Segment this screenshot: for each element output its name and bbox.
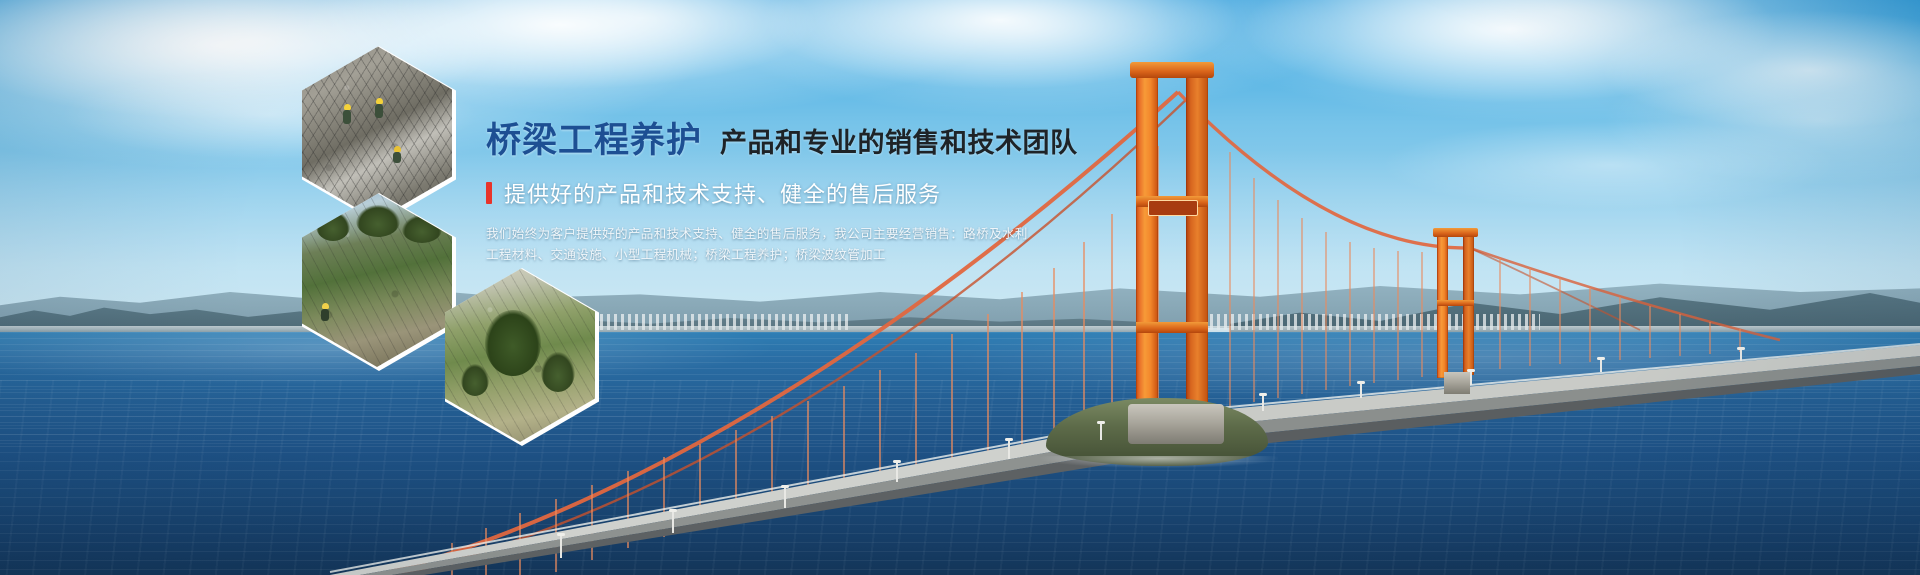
deck-lamp-7 xyxy=(1262,396,1264,411)
headline-main: 桥梁工程养护 xyxy=(486,118,702,164)
headline: 桥梁工程养护 产品和专业的销售和技术团队 xyxy=(486,118,1106,164)
deck-lamp-2 xyxy=(672,512,674,533)
deck-lamp-4 xyxy=(896,463,898,482)
deck-lamp-9 xyxy=(1470,372,1472,385)
photo-tree-2 xyxy=(356,205,400,237)
bridge-tower-main-top-beam xyxy=(1130,62,1214,78)
photo-tree-5 xyxy=(541,352,575,392)
subheadline: 提供好的产品和技术支持、健全的售后服务 xyxy=(486,178,1106,208)
suspension-bridge xyxy=(0,0,1920,575)
deck-lamp-6 xyxy=(1100,424,1102,440)
bridge-tower-main-right-leg xyxy=(1186,62,1208,430)
deck-lamp-8 xyxy=(1360,384,1362,398)
hero-banner: 桥梁工程养护 产品和专业的销售和技术团队 提供好的产品和技术支持、健全的售后服务… xyxy=(0,0,1920,575)
bridge-tower-main-lower-beam xyxy=(1136,322,1208,333)
deck-lamp-5 xyxy=(1008,441,1010,459)
photo-tree-4 xyxy=(485,310,541,376)
bridge-tower-far-mid-beam xyxy=(1437,300,1474,306)
bridge-tower-main-sign xyxy=(1148,200,1198,216)
bridge-tower-far-top-beam xyxy=(1433,228,1478,237)
banner-text-block: 桥梁工程养护 产品和专业的销售和技术团队 提供好的产品和技术支持、健全的售后服务… xyxy=(486,118,1106,266)
photo-tree-6 xyxy=(461,364,489,396)
description-line-1: 我们始终为客户提供好的产品和技术支持、健全的售后服务，我公司主要经营销售：路桥及… xyxy=(486,224,1046,245)
deck-lamp-3 xyxy=(784,488,786,508)
islet-shore-foam xyxy=(1040,456,1278,468)
headline-sub: 产品和专业的销售和技术团队 xyxy=(720,120,1078,166)
subheadline-text: 提供好的产品和技术支持、健全的售后服务 xyxy=(504,177,941,209)
description-line-2: 工程材料、交通设施、小型工程机械；桥梁工程养护；桥梁波纹管加工 xyxy=(486,245,1046,266)
bridge-tower-main-left-leg xyxy=(1136,62,1158,434)
bridge-tower-pier xyxy=(1128,404,1224,444)
banner-description: 我们始终为客户提供好的产品和技术支持、健全的售后服务，我公司主要经营销售：路桥及… xyxy=(486,224,1046,266)
deck-lamp-10 xyxy=(1600,360,1602,372)
deck-lamp-1 xyxy=(560,536,562,558)
bridge-pier-far xyxy=(1444,372,1470,394)
bridge-cables-svg xyxy=(0,0,1920,575)
deck-lamp-11 xyxy=(1740,350,1742,361)
accent-bar-icon xyxy=(486,182,492,204)
